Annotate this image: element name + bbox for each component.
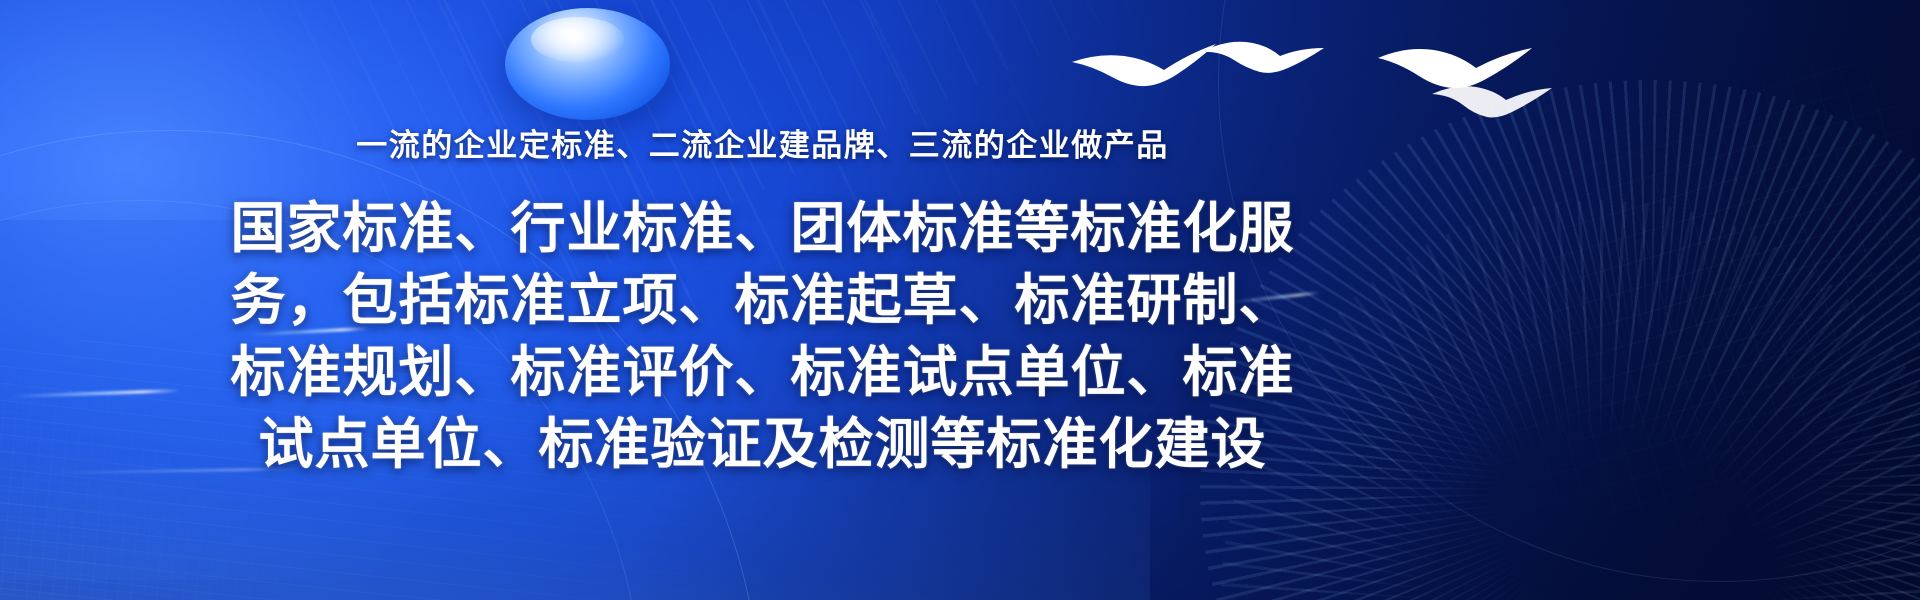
- promotional-banner: 一流的企业定标准、二流企业建品牌、三流的企业做产品 国家标准、行业标准、团体标准…: [0, 0, 1920, 600]
- body-line-1: 国家标准、行业标准、团体标准等标准化服: [200, 192, 1325, 264]
- banner-headline: 一流的企业定标准、二流企业建品牌、三流的企业做产品: [0, 120, 1525, 165]
- body-line-2: 务，包括标准立项、标准起草、标准研制、: [200, 264, 1325, 336]
- body-line-4: 试点单位、标准验证及检测等标准化建设: [200, 408, 1325, 480]
- body-line-3: 标准规划、标准评价、标准试点单位、标准: [200, 336, 1325, 408]
- banner-body-text: 国家标准、行业标准、团体标准等标准化服 务，包括标准立项、标准起草、标准研制、 …: [200, 192, 1325, 480]
- banner-content: 一流的企业定标准、二流企业建品牌、三流的企业做产品 国家标准、行业标准、团体标准…: [0, 0, 1920, 600]
